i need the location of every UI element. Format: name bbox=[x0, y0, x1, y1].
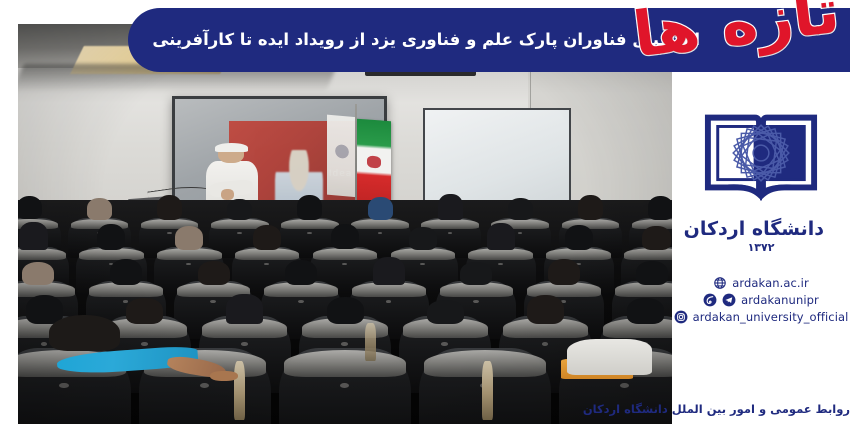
public-relations-line: روابط عمومی و امور بین الملل دانشگاه ارد… bbox=[672, 402, 850, 416]
page-title: استقبال فناوران پارک علم و فناوری یزد از… bbox=[154, 28, 700, 53]
contact-instagram[interactable]: ardakan_university_official bbox=[674, 310, 849, 324]
university-name: دانشگاه اردکان bbox=[698, 218, 824, 240]
open-book-icon bbox=[702, 96, 820, 214]
contact-website[interactable]: ardakan.ac.ir bbox=[713, 276, 809, 290]
hand bbox=[210, 371, 237, 382]
contact-messengers[interactable]: ardakanunipr bbox=[703, 293, 819, 307]
university-logo: دانشگاه اردکان ۱۳۷۲ bbox=[698, 96, 824, 254]
contact-list: ardakan.ac.ir ardakanunipr bbox=[672, 276, 850, 324]
established-year: ۱۳۷۲ bbox=[698, 241, 824, 254]
globe-icon bbox=[713, 276, 727, 290]
seat bbox=[279, 348, 412, 424]
audience-member-white-shirt bbox=[567, 339, 652, 375]
audience-area bbox=[18, 200, 672, 424]
messenger-handle: ardakanunipr bbox=[741, 293, 819, 307]
instagram-handle: ardakan_university_official bbox=[693, 310, 849, 324]
presenter-hand bbox=[221, 189, 234, 200]
poster-canvas: Idea bbox=[0, 0, 850, 448]
seat-armrest bbox=[234, 361, 245, 419]
iran-flag bbox=[357, 119, 391, 205]
photo-scene: Idea bbox=[18, 24, 672, 424]
event-photo: Idea bbox=[18, 24, 672, 424]
branding-sidebar: دانشگاه اردکان ۱۳۷۲ ardakan.ac.ir bbox=[672, 72, 850, 448]
eitaa-icon bbox=[703, 293, 717, 307]
telegram-icon bbox=[722, 293, 736, 307]
head bbox=[49, 315, 120, 351]
instagram-icon bbox=[674, 310, 688, 324]
audience-member-blue-shirt bbox=[38, 321, 234, 384]
institution-flag bbox=[327, 115, 357, 198]
seat-armrest bbox=[365, 323, 376, 361]
website-url: ardakan.ac.ir bbox=[732, 276, 809, 290]
seat-armrest bbox=[482, 361, 493, 419]
presenter-cap bbox=[215, 143, 248, 152]
